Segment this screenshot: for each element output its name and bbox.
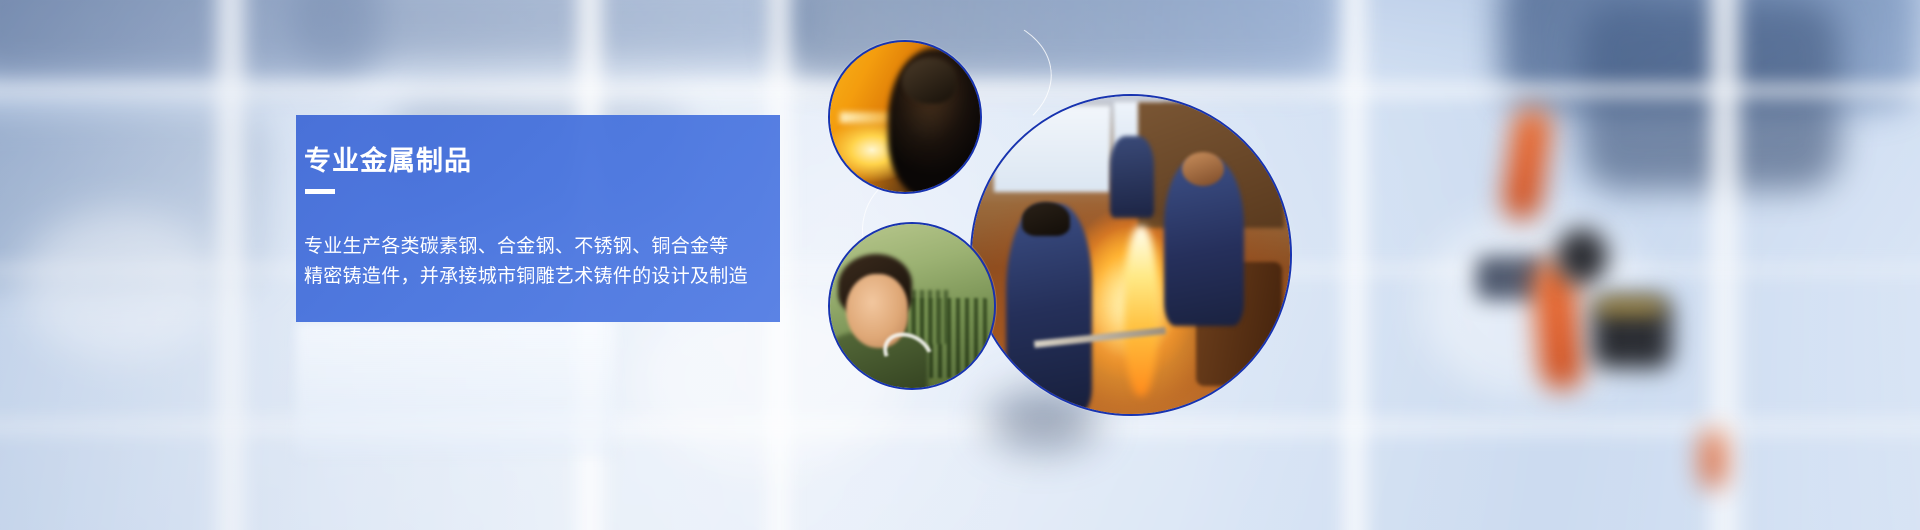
foundry-worker-right-head (1182, 152, 1224, 186)
welding-photo (830, 42, 980, 192)
panel-description: 专业生产各类碳素钢、合金钢、不锈钢、铜合金等 精密铸造件，并承接城市铜雕艺术铸件… (304, 232, 778, 292)
foundry-photo (972, 96, 1290, 414)
foundry-worker-background (1110, 136, 1154, 218)
welding-photo-circle (828, 40, 982, 194)
panel-divider (305, 189, 335, 194)
foundry-photo-circle (970, 94, 1292, 416)
promo-panel: 专业金属制品 专业生产各类碳素钢、合金钢、不锈钢、铜合金等 精密铸造件，并承接城… (296, 115, 780, 322)
inspection-photo-circle (828, 222, 996, 390)
welding-helmet (902, 58, 956, 104)
inspection-photo (830, 224, 994, 388)
light-backdrop-panel (296, 322, 616, 457)
foundry-worker-left-helmet (1022, 202, 1070, 236)
panel-description-line-1: 专业生产各类碳素钢、合金钢、不锈钢、铜合金等 (304, 232, 778, 262)
foundry-window-left (994, 106, 1110, 192)
panel-title: 专业金属制品 (304, 139, 472, 178)
hero-banner: 专业金属制品 专业生产各类碳素钢、合金钢、不锈钢、铜合金等 精密铸造件，并承接城… (0, 0, 1920, 530)
foundry-molten-pour (1124, 226, 1158, 396)
panel-description-line-2: 精密铸造件，并承接城市铜雕艺术铸件的设计及制造 (304, 262, 778, 292)
